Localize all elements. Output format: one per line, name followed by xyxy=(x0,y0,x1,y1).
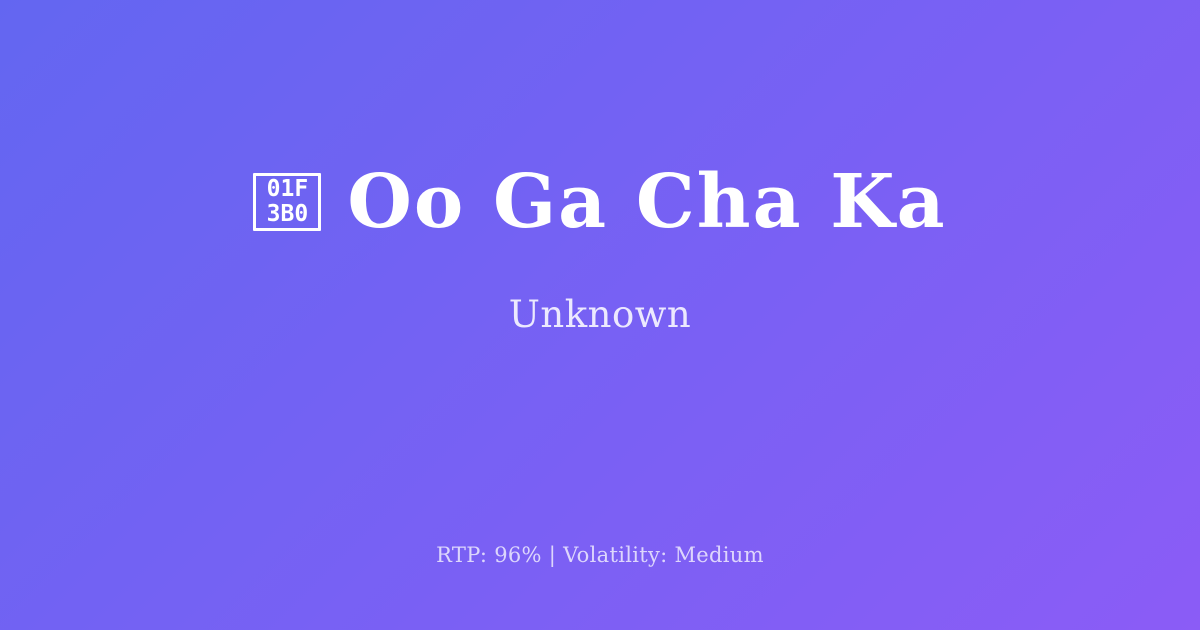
page-title: Oo Ga Cha Ka xyxy=(347,163,946,241)
page-subtitle: Unknown xyxy=(509,293,692,337)
tofu-codepoint-bottom: 3B0 xyxy=(267,202,309,227)
og-preview-card: 01F 3B0 Oo Ga Cha Ka Unknown RTP: 96% | … xyxy=(0,0,1200,630)
meta-text: RTP: 96% | Volatility: Medium xyxy=(436,543,764,567)
hero-block: 01F 3B0 Oo Ga Cha Ka Unknown xyxy=(0,0,1200,500)
tofu-codepoint-top: 01F xyxy=(267,177,309,202)
slot-machine-icon: 01F 3B0 xyxy=(253,173,321,231)
game-meta-line: RTP: 96% | Volatility: Medium xyxy=(0,543,1200,568)
title-row: 01F 3B0 Oo Ga Cha Ka xyxy=(253,163,946,241)
